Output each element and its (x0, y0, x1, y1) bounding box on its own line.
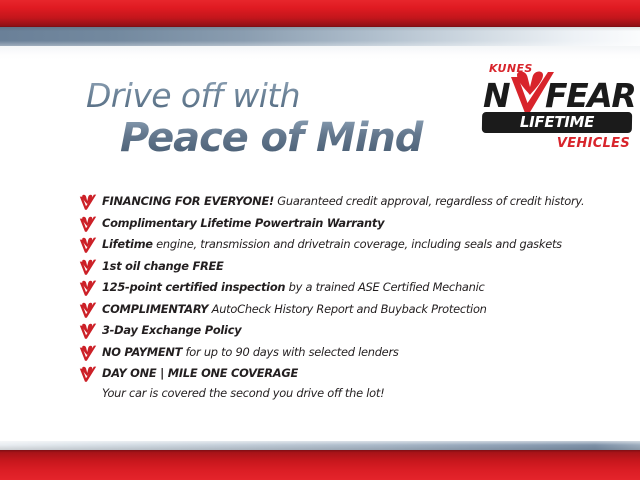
list-item-rest: for up to 90 days with selected lenders (182, 345, 398, 359)
heart-check-icon (78, 280, 97, 297)
list-item-rest: AutoCheck History Report and Buyback Pro… (208, 302, 486, 316)
list-item-subtext: Your car is covered the second you drive… (102, 385, 598, 401)
list-item: 3-Day Exchange Policy (78, 321, 598, 343)
list-item-text: FINANCING FOR EVERYONE! Guaranteed credi… (102, 192, 598, 210)
headline-line-2: Peace of Mind (120, 116, 466, 160)
list-item-text: NO PAYMENT for up to 90 days with select… (102, 343, 598, 361)
list-item-strong: Lifetime (102, 237, 153, 251)
list-item-text: Lifetime engine, transmission and drivet… (102, 235, 598, 253)
heart-check-icon (78, 216, 97, 233)
heart-check-icon (78, 194, 97, 211)
list-item: NO PAYMENT for up to 90 days with select… (78, 343, 598, 365)
logo-word-fear: FEAR (545, 79, 635, 112)
list-item-strong: 1st oil change FREE (102, 259, 224, 273)
headline-block: Drive off with Peace of Mind (86, 78, 466, 160)
top-white-fade (0, 46, 640, 60)
bottom-red-band (0, 450, 640, 480)
benefits-list: FINANCING FOR EVERYONE! Guaranteed credi… (78, 192, 598, 401)
list-item-strong: 125-point certified inspection (102, 280, 285, 294)
heart-check-icon (78, 323, 97, 340)
list-item-rest: Guaranteed credit approval, regardless o… (274, 194, 584, 208)
list-item: DAY ONE | MILE ONE COVERAGE Your car is … (78, 364, 598, 401)
heart-check-icon (78, 302, 97, 319)
list-item-text: 125-point certified inspection by a trai… (102, 278, 598, 296)
list-item: Complimentary Lifetime Powertrain Warran… (78, 214, 598, 236)
list-item-strong: FINANCING FOR EVERYONE! (102, 194, 274, 208)
logo-certified-label: LIFETIME CERTIFIED (482, 112, 632, 133)
kunes-no-fear-logo: KUNES N FEAR LIFETIME CERTIFIED VEHICLES (481, 62, 633, 158)
list-item-text: 1st oil change FREE (102, 257, 598, 275)
list-item-text: DAY ONE | MILE ONE COVERAGE (102, 364, 598, 382)
list-item-strong: 3-Day Exchange Policy (102, 323, 241, 337)
logo-word-vehicles: VEHICLES (557, 136, 630, 151)
bottom-slate-band-shading (0, 441, 640, 450)
list-item: FINANCING FOR EVERYONE! Guaranteed credi… (78, 192, 598, 214)
list-item: Lifetime engine, transmission and drivet… (78, 235, 598, 257)
heart-check-icon (78, 366, 97, 383)
heart-check-icon (78, 345, 97, 362)
list-item: COMPLIMENTARY AutoCheck History Report a… (78, 300, 598, 322)
list-item-strong: DAY ONE | MILE ONE COVERAGE (102, 366, 298, 380)
list-item: 125-point certified inspection by a trai… (78, 278, 598, 300)
list-item-strong: Complimentary Lifetime Powertrain Warran… (102, 216, 384, 230)
list-item-text: COMPLIMENTARY AutoCheck History Report a… (102, 300, 598, 318)
list-item-text: Complimentary Lifetime Powertrain Warran… (102, 214, 598, 232)
promo-poster: Drive off with Peace of Mind KUNES N FEA… (0, 0, 640, 480)
heart-check-icon (78, 259, 97, 276)
list-item-strong: NO PAYMENT (102, 345, 182, 359)
headline-line-1: Drive off with (86, 78, 466, 114)
top-red-band (0, 0, 640, 27)
list-item-rest: by a trained ASE Certified Mechanic (285, 280, 484, 294)
list-item: 1st oil change FREE (78, 257, 598, 279)
top-slate-band-shading (0, 27, 640, 46)
list-item-rest: engine, transmission and drivetrain cove… (153, 237, 562, 251)
heart-check-icon (78, 237, 97, 254)
list-item-strong: COMPLIMENTARY (102, 302, 208, 316)
list-item-text: 3-Day Exchange Policy (102, 321, 598, 339)
logo-wordmark: N FEAR (481, 80, 633, 112)
